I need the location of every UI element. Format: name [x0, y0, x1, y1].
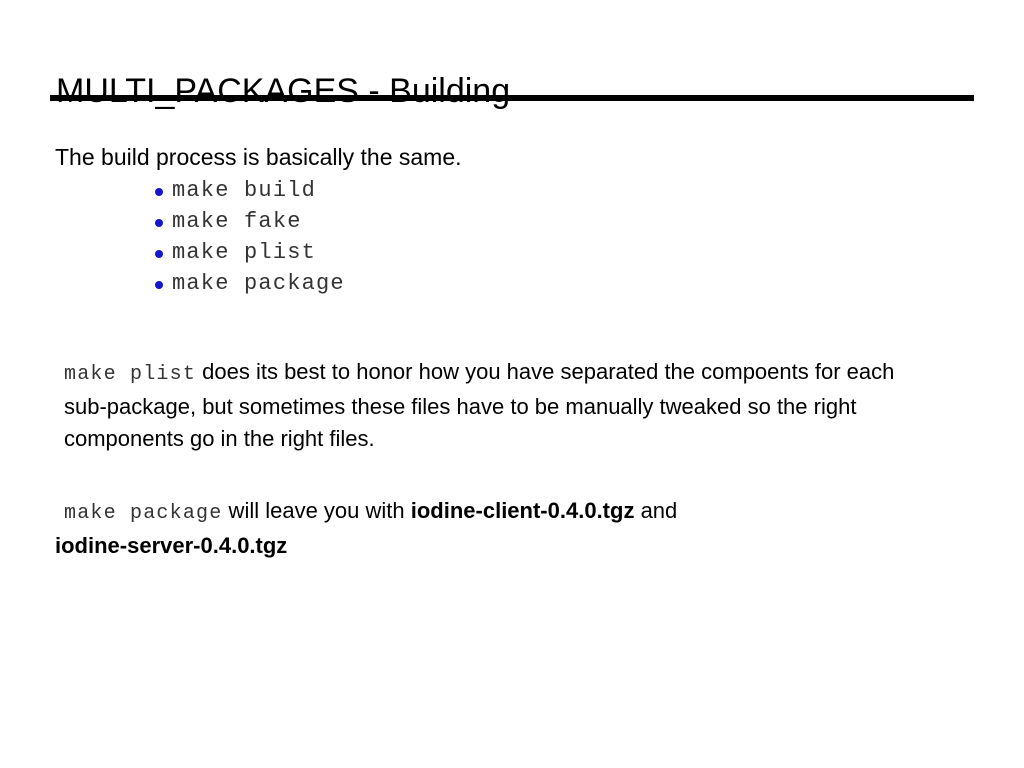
- package-text-middle: and: [634, 498, 677, 523]
- slide-body: The build process is basically the same.…: [0, 0, 1024, 768]
- package-command-inline: make package: [64, 502, 222, 525]
- bullet-dot-icon: [155, 219, 163, 227]
- client-package-filename: iodine-client-0.4.0.tgz: [411, 498, 635, 523]
- list-item: make fake: [150, 206, 345, 237]
- command-label: make plist: [172, 240, 316, 265]
- plist-command-inline: make plist: [64, 363, 196, 386]
- list-item: make build: [150, 175, 345, 206]
- command-label: make package: [172, 271, 345, 296]
- package-text-before: will leave you with: [222, 498, 410, 523]
- bullet-dot-icon: [155, 250, 163, 258]
- package-paragraph: make package will leave you with iodine-…: [64, 495, 924, 562]
- list-item: make plist: [150, 237, 345, 268]
- bullet-dot-icon: [155, 188, 163, 196]
- intro-text: The build process is basically the same.: [55, 143, 462, 171]
- slide-canvas: MULTI_PACKAGES - Building The build proc…: [0, 0, 1024, 768]
- list-item: make package: [150, 268, 345, 299]
- server-package-filename: iodine-server-0.4.0.tgz: [55, 530, 924, 562]
- command-label: make fake: [172, 209, 302, 234]
- plist-paragraph: make plist does its best to honor how yo…: [64, 356, 912, 455]
- command-label: make build: [172, 178, 316, 203]
- bullet-dot-icon: [155, 281, 163, 289]
- command-list: make build make fake make plist make pac…: [150, 175, 345, 299]
